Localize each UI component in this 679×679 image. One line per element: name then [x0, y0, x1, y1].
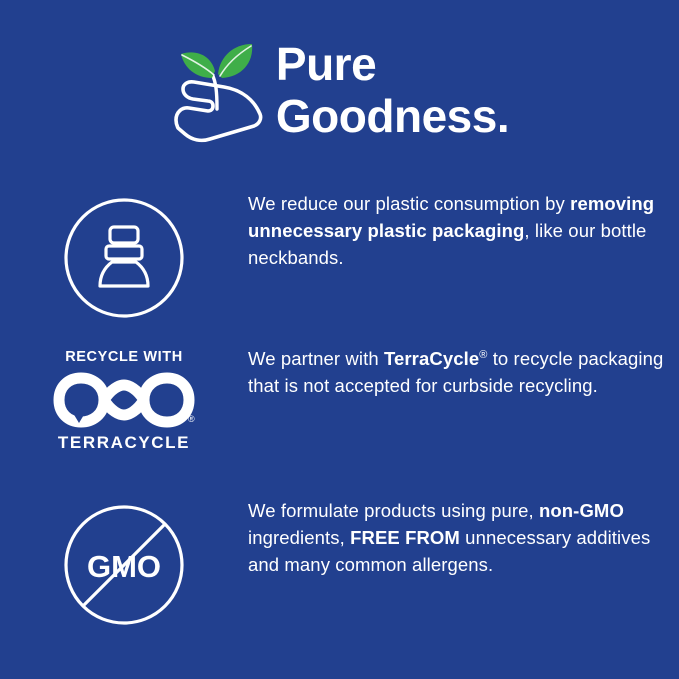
feature-text-gmo: We formulate products using pure, non-GM…: [248, 497, 679, 578]
text-seg-bold: TerraCycle: [384, 348, 479, 369]
text-seg-bold: non-GMO: [539, 500, 624, 521]
feature-text-terracycle: We partner with TerraCycle® to recycle p…: [248, 345, 679, 399]
feature-row-plastic: We reduce our plastic consumption by rem…: [0, 190, 679, 327]
terracycle-logo-icon: RECYCLE WITH ® TERRACYCLE: [49, 349, 199, 453]
terracycle-bottom-text: TERRACYCLE: [58, 433, 190, 453]
pure-goodness-infographic: Pure Goodness. We reduce our plastic con…: [0, 0, 679, 679]
feature-row-gmo: GMO We formulate products using pure, no…: [0, 497, 679, 634]
bottle-neckband-circle-icon: [60, 194, 188, 327]
hand-holding-leaves-icon: [170, 34, 266, 144]
feature-row-terracycle: RECYCLE WITH ® TERRACYCLE We partn: [0, 345, 679, 453]
gmo-label: GMO: [87, 549, 161, 584]
terracycle-top-text: RECYCLE WITH: [65, 349, 183, 365]
text-seg: We formulate products using pure,: [248, 500, 539, 521]
header: Pure Goodness.: [0, 22, 679, 152]
page-title: Pure Goodness.: [276, 38, 509, 142]
icon-cell-plastic: [0, 190, 248, 327]
registered-mark: ®: [188, 414, 195, 424]
text-seg: We partner with: [248, 348, 384, 369]
text-seg: We reduce our plastic consumption by: [248, 193, 570, 214]
icon-cell-terracycle: RECYCLE WITH ® TERRACYCLE: [0, 345, 248, 453]
text-seg: ingredients,: [248, 527, 350, 548]
no-gmo-circle-icon: GMO: [60, 501, 188, 634]
icon-cell-gmo: GMO: [0, 497, 248, 634]
text-seg-bold: FREE FROM: [350, 527, 460, 548]
feature-text-plastic: We reduce our plastic consumption by rem…: [248, 190, 679, 271]
